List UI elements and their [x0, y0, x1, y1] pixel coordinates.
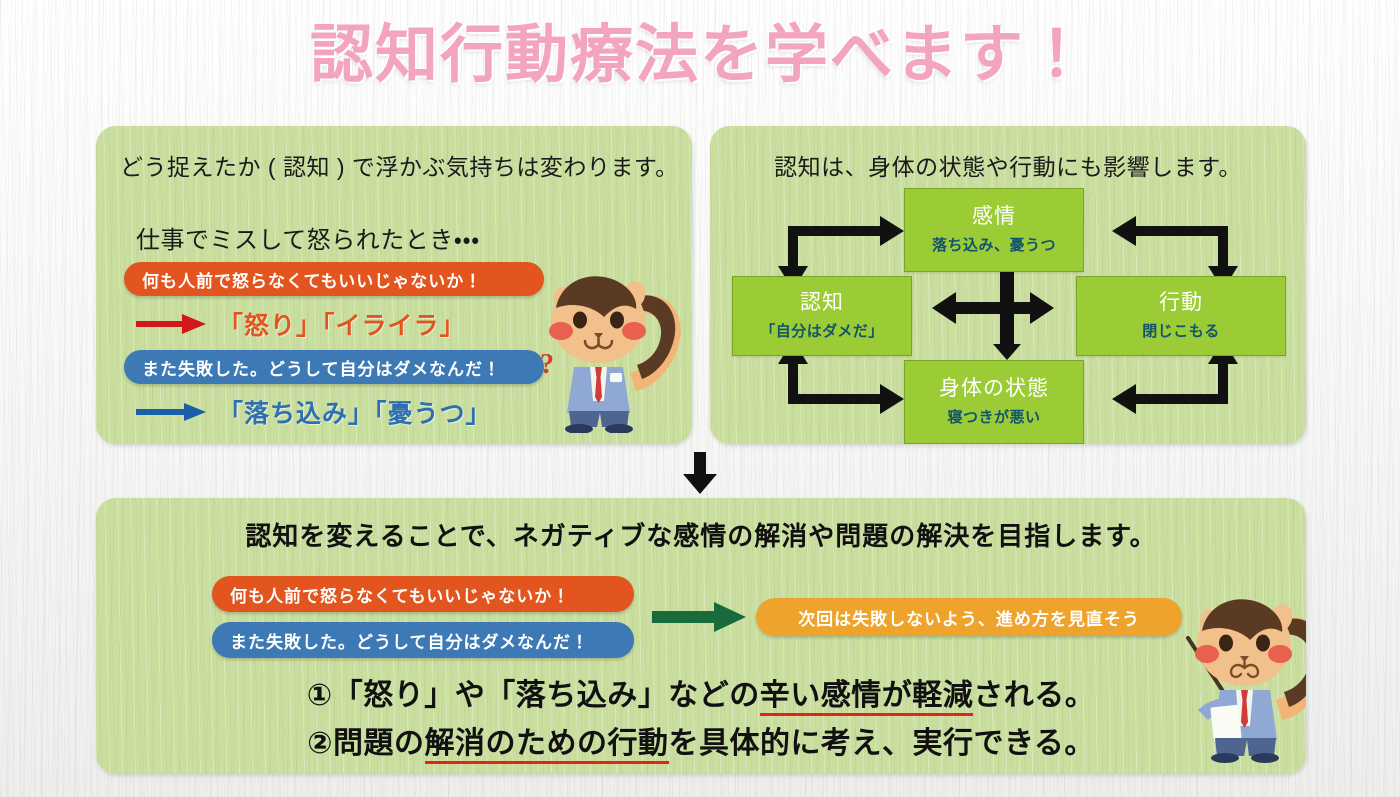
outcome-bullet-1-prefix: ①「怒り」や「落ち込み」などの [307, 679, 760, 712]
result-anger-label: 「怒り」「イライラ」 [218, 306, 466, 342]
cycle-node-cognition-title: 認知 [800, 291, 844, 315]
thought-pill-failure-label: また失敗した。どうして自分はダメなんだ！ [124, 355, 501, 380]
thought-pill-anger: 何も人前で怒らなくてもいいじゃないか！ [124, 262, 544, 296]
bottom-panel: 認知を変えることで、ネガティブな感情の解消や問題の解決を目指します。 何も人前で… [96, 498, 1306, 774]
solution-pill-label: 次回は失敗しないよう、進め方を見直そう [756, 605, 1182, 630]
right-panel: 認知は、身体の状態や行動にも影響します。 感情 落ち込み、憂うつ [710, 126, 1306, 444]
green-right-arrow-icon [652, 602, 748, 637]
result-anger-row: 「怒り」「イライラ」 [136, 306, 466, 342]
thought-pill-failure: また失敗した。どうして自分はダメなんだ！ [124, 350, 544, 384]
right-panel-heading: 認知は、身体の状態や行動にも影響します。 [710, 148, 1306, 182]
puzzled-squirrel-mascot: ? [538, 261, 688, 438]
question-mark-icon: ? [540, 349, 554, 380]
cycle-node-cognition-sub: 「自分はダメだ」 [760, 320, 884, 341]
outcome-bullet-2-prefix: ②問題の [307, 727, 424, 760]
cycle-node-behavior-sub: 閉じこもる [1142, 320, 1220, 341]
solution-pill: 次回は失敗しないよう、進め方を見直そう [756, 598, 1182, 636]
left-panel: どう捉えたか ( 認知 ) で浮かぶ気持ちは変わります。 仕事でミスして怒られた… [96, 126, 692, 444]
left-panel-subheading: 仕事でミスして怒られたとき・・・ [136, 220, 480, 255]
cycle-node-cognition: 認知 「自分はダメだ」 [732, 276, 912, 356]
outcome-bullet-2: ②問題の解消のための行動を具体的に考え、実行できる。 [96, 718, 1306, 762]
cycle-node-behavior: 行動 閉じこもる [1076, 276, 1286, 356]
bottom-thought-pill-anger: 何も人前で怒らなくてもいいじゃないか！ [212, 576, 634, 612]
cycle-node-behavior-title: 行動 [1159, 291, 1203, 315]
cycle-node-emotion-sub: 落ち込み、憂うつ [932, 234, 1056, 255]
outcome-bullet-2-underlined: 解消のための行動 [425, 727, 669, 764]
cycle-node-body-state-sub: 寝つきが悪い [947, 406, 1040, 427]
page-title: 認知行動療法を学べます！ [0, 22, 1400, 88]
cycle-node-emotion-title: 感情 [972, 205, 1016, 229]
cycle-node-emotion: 感情 落ち込み、憂うつ [904, 188, 1084, 272]
outcome-bullet-1-suffix: される。 [973, 679, 1095, 712]
cycle-node-body-state: 身体の状態 寝つきが悪い [904, 360, 1084, 444]
result-depression-row: 「落ち込み」「憂うつ」 [136, 394, 492, 430]
down-arrow-icon [681, 452, 719, 499]
blue-right-arrow-icon [136, 401, 208, 423]
result-depression-label: 「落ち込み」「憂うつ」 [218, 394, 492, 430]
cycle-node-body-state-title: 身体の状態 [939, 377, 1049, 401]
bottom-thought-pill-failure-label: また失敗した。どうして自分はダメなんだ！ [212, 628, 589, 653]
outcome-bullet-2-suffix: を具体的に考え、実行できる。 [669, 727, 1095, 760]
thought-pill-anger-label: 何も人前で怒らなくてもいいじゃないか！ [124, 267, 482, 292]
bottom-thought-pill-failure: また失敗した。どうして自分はダメなんだ！ [212, 622, 634, 658]
cbt-cycle-diagram: 感情 落ち込み、憂うつ 認知 「自分はダメだ」 行動 閉じこもる 身体の状態 寝… [732, 188, 1284, 436]
outcome-bullet-1: ①「怒り」や「落ち込み」などの辛い感情が軽減される。 [96, 670, 1306, 714]
outcome-bullet-1-underlined: 辛い感情が軽減 [760, 679, 974, 716]
left-panel-heading: どう捉えたか ( 認知 ) で浮かぶ気持ちは変わります。 [120, 148, 679, 182]
bottom-thought-pill-anger-label: 何も人前で怒らなくてもいいじゃないか！ [212, 582, 570, 607]
pointing-squirrel-mascot [1186, 586, 1306, 771]
red-right-arrow-icon [136, 311, 208, 337]
bottom-panel-heading: 認知を変えることで、ネガティブな感情の解消や問題の解決を目指します。 [96, 516, 1306, 553]
